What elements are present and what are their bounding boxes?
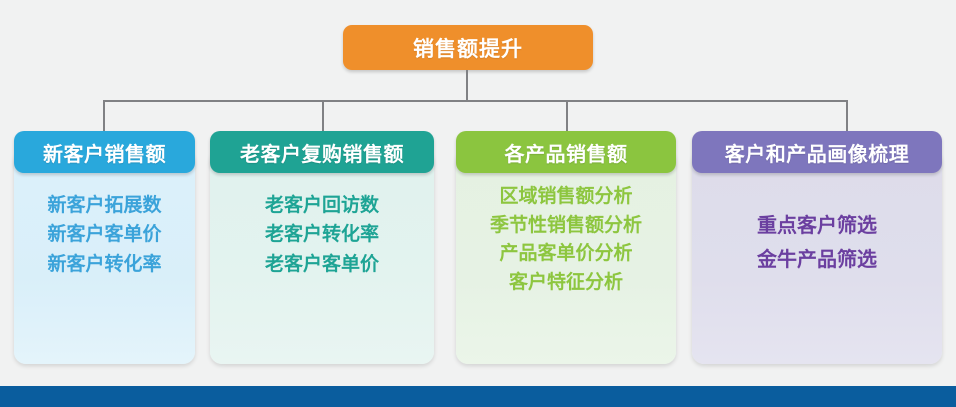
branch-3-header[interactable]: 各产品销售额 xyxy=(456,131,676,173)
branch-1-item: 新客户客单价 xyxy=(20,220,189,249)
branch-4-item-list: 重点客户筛选 金牛产品筛选 xyxy=(692,209,942,278)
branch-3-header-label: 各产品销售额 xyxy=(505,138,628,167)
connector-branch-2-vertical xyxy=(322,100,324,131)
branch-3-item: 产品客单价分析 xyxy=(462,240,670,269)
branch-2-item: 老客户转化率 xyxy=(216,220,428,249)
branch-2-header[interactable]: 老客户复购销售额 xyxy=(210,131,434,173)
footer-bar xyxy=(0,386,956,407)
branch-3-item: 客户特征分析 xyxy=(462,269,670,298)
branch-1-item: 新客户转化率 xyxy=(20,250,189,279)
connector-horizontal-bus xyxy=(103,100,848,102)
branch-3-item-list: 区域销售额分析 季节性销售额分析 产品客单价分析 客户特征分析 xyxy=(456,183,676,297)
branch-1-header[interactable]: 新客户销售额 xyxy=(14,131,195,173)
branch-4-header-label: 客户和产品画像梳理 xyxy=(725,138,910,167)
connector-root-vertical xyxy=(466,70,468,101)
branch-2-item: 老客户客单价 xyxy=(216,250,428,279)
branch-1-item: 新客户拓展数 xyxy=(20,191,189,220)
branch-4-header[interactable]: 客户和产品画像梳理 xyxy=(692,131,942,173)
diagram-canvas: 销售额提升 新客户销售额 新客户拓展数 新客户客单价 新客户转化率 老客户复购销… xyxy=(0,0,956,407)
branch-4-item: 金牛产品筛选 xyxy=(698,243,936,277)
root-node-label: 销售额提升 xyxy=(413,33,523,63)
connector-branch-1-vertical xyxy=(103,100,105,131)
connector-branch-4-vertical xyxy=(846,100,848,131)
branch-4-item: 重点客户筛选 xyxy=(698,209,936,243)
connector-branch-3-vertical xyxy=(566,100,568,131)
branch-3-item: 区域销售额分析 xyxy=(462,183,670,212)
root-node-sales-improvement[interactable]: 销售额提升 xyxy=(343,25,593,70)
branch-1-header-label: 新客户销售额 xyxy=(43,138,166,167)
branch-2-item: 老客户回访数 xyxy=(216,191,428,220)
branch-2-item-list: 老客户回访数 老客户转化率 老客户客单价 xyxy=(210,191,434,279)
branch-2-header-label: 老客户复购销售额 xyxy=(240,138,404,167)
branch-1-item-list: 新客户拓展数 新客户客单价 新客户转化率 xyxy=(14,191,195,279)
branch-3-item: 季节性销售额分析 xyxy=(462,212,670,241)
